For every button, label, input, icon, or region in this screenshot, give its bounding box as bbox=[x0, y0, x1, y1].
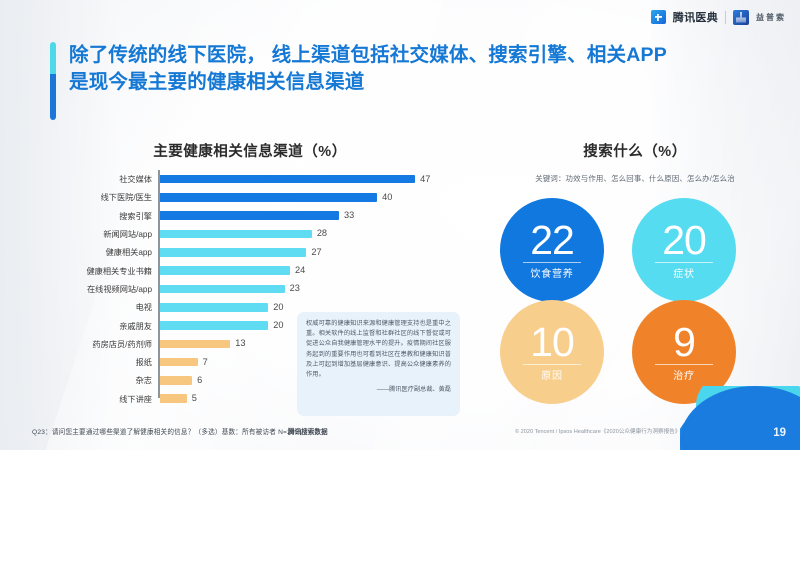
corner-swoosh-decoration bbox=[680, 386, 800, 450]
bar-category-label: 搜索引擎 bbox=[40, 210, 158, 222]
bar-value-label: 33 bbox=[344, 211, 354, 220]
bar-chart-row: 新闻网站/app28 bbox=[40, 225, 460, 243]
bar-track: 28 bbox=[158, 225, 460, 243]
bar-value-label: 7 bbox=[203, 358, 208, 367]
bar-value-label: 20 bbox=[273, 321, 283, 330]
bar-category-label: 新闻网站/app bbox=[40, 228, 158, 240]
bar-track: 40 bbox=[158, 188, 460, 206]
topic-circle-value: 10 bbox=[530, 323, 574, 361]
bar-chart-row: 搜索引擎33 bbox=[40, 207, 460, 225]
logo-divider bbox=[725, 11, 726, 24]
bar-track: 24 bbox=[158, 261, 460, 279]
quote-attribution: ——腾讯医疗副总裁、黄磊 bbox=[306, 384, 451, 393]
bar-value-label: 20 bbox=[273, 303, 283, 312]
title-accent-top bbox=[50, 42, 56, 74]
bar-track: 33 bbox=[158, 207, 460, 225]
bar-value-label: 47 bbox=[420, 175, 430, 184]
bar bbox=[160, 211, 340, 220]
bar-category-label: 药房店员/药剂师 bbox=[40, 338, 158, 350]
bar-category-label: 健康相关专业书籍 bbox=[40, 265, 158, 277]
footer-source: 腾讯搜索数据 bbox=[288, 426, 328, 436]
search-topics-title: 搜索什么（%） bbox=[470, 140, 800, 161]
slide-footer: Q23：请问您主要通过哪些渠道了解健康相关的信息？（多选）基数：所有被访者 N=… bbox=[0, 414, 800, 450]
bar-category-label: 电视 bbox=[40, 301, 158, 313]
bar bbox=[160, 193, 378, 202]
topic-circle-value: 9 bbox=[673, 323, 695, 361]
topic-circle: 22饮食营养 bbox=[500, 198, 604, 302]
bar-chart-row: 在线视频网站/app23 bbox=[40, 280, 460, 298]
bar-value-label: 27 bbox=[311, 248, 321, 257]
medical-book-icon bbox=[651, 10, 666, 24]
bar bbox=[160, 230, 312, 239]
quote-callout: 权威可靠的健康知识来源和健康管理支持也是重中之重。相关软件的线上监督和社群社区的… bbox=[297, 312, 460, 416]
footer-copyright: © 2020 Tencent / Ipsos Healthcare《2020公众… bbox=[515, 427, 680, 435]
bar bbox=[160, 303, 269, 312]
bar bbox=[160, 376, 193, 385]
bar-category-label: 社交媒体 bbox=[40, 173, 158, 185]
slide-canvas: 腾讯医典 益普索 除了传统的线下医院， 线上渠道包括社交媒体、搜索引擎、相关AP… bbox=[0, 0, 800, 450]
topic-circle-label: 治疗 bbox=[673, 367, 695, 382]
bar-category-label: 报纸 bbox=[40, 356, 158, 368]
bar-chart-row: 线下医院/医生40 bbox=[40, 188, 460, 206]
bar-category-label: 线下医院/医生 bbox=[40, 191, 158, 203]
bar-track: 27 bbox=[158, 243, 460, 261]
bar bbox=[160, 266, 291, 275]
bar-chart-row: 健康相关专业书籍24 bbox=[40, 261, 460, 279]
topic-circle: 10原因 bbox=[500, 300, 604, 404]
bar bbox=[160, 340, 231, 349]
bar bbox=[160, 394, 187, 403]
bar-value-label: 5 bbox=[192, 394, 197, 403]
bar bbox=[160, 285, 285, 294]
bar-value-label: 24 bbox=[295, 266, 305, 275]
bar-category-label: 在线视频网站/app bbox=[40, 283, 158, 295]
bar bbox=[160, 358, 198, 367]
title-text: 除了传统的线下医院， 线上渠道包括社交媒体、搜索引擎、相关APP 是现今最主要的… bbox=[69, 42, 667, 120]
topic-circle-value: 22 bbox=[530, 221, 574, 259]
topic-circle-divider bbox=[655, 364, 713, 365]
bar-value-label: 23 bbox=[290, 284, 300, 293]
ipsos-logo-icon bbox=[733, 10, 749, 25]
title-accent-bottom bbox=[50, 74, 56, 120]
bar-category-label: 线下讲座 bbox=[40, 393, 158, 405]
logo-secondary-label: 益普索 bbox=[756, 12, 786, 23]
bar-category-label: 健康相关app bbox=[40, 246, 158, 258]
bar-value-label: 6 bbox=[197, 376, 202, 385]
bar-chart-row: 社交媒体47 bbox=[40, 170, 460, 188]
topic-circle-divider bbox=[523, 364, 581, 365]
slide-title: 除了传统的线下医院， 线上渠道包括社交媒体、搜索引擎、相关APP 是现今最主要的… bbox=[50, 42, 667, 120]
bar bbox=[160, 321, 269, 330]
topic-circle-label: 饮食营养 bbox=[530, 265, 573, 280]
brand-logo-bar: 腾讯医典 益普索 bbox=[651, 9, 786, 25]
bar-category-label: 杂志 bbox=[40, 374, 158, 386]
bar-track: 47 bbox=[158, 170, 460, 188]
page-number: 19 bbox=[773, 427, 786, 439]
bar bbox=[160, 248, 307, 257]
title-line-2: 是现今最主要的健康相关信息渠道 bbox=[69, 69, 667, 96]
bar-track: 23 bbox=[158, 280, 460, 298]
bar-chart-title: 主要健康相关信息渠道（%） bbox=[40, 140, 460, 161]
topic-circle-divider bbox=[523, 262, 581, 263]
topic-circle-divider bbox=[655, 262, 713, 263]
topic-circle-value: 20 bbox=[662, 221, 706, 259]
search-keywords-line: 关键词：功效与作用、怎么回事、什么原因、怎么办/怎么治 bbox=[470, 173, 800, 184]
quote-body: 权威可靠的健康知识来源和健康管理支持也是重中之重。相关软件的线上监督和社群社区的… bbox=[306, 319, 451, 380]
bar-value-label: 40 bbox=[382, 193, 392, 202]
bar-value-label: 13 bbox=[235, 339, 245, 348]
topic-circle-label: 症状 bbox=[673, 265, 695, 280]
title-accent-bar bbox=[50, 42, 56, 120]
topic-circle-label: 原因 bbox=[541, 367, 563, 382]
search-topic-circles: 22饮食营养20症状10原因9治疗 bbox=[492, 198, 772, 413]
logo-primary-label: 腾讯医典 bbox=[673, 9, 718, 25]
footer-question: Q23：请问您主要通过哪些渠道了解健康相关的信息？（多选）基数：所有被访者 N=… bbox=[32, 426, 303, 436]
bar bbox=[160, 175, 416, 184]
search-topics-panel: 搜索什么（%） 关键词：功效与作用、怎么回事、什么原因、怎么办/怎么治 22饮食… bbox=[470, 140, 800, 420]
bar-chart-row: 健康相关app27 bbox=[40, 243, 460, 261]
topic-circle: 20症状 bbox=[632, 198, 736, 302]
title-line-1: 除了传统的线下医院， 线上渠道包括社交媒体、搜索引擎、相关APP bbox=[69, 42, 667, 69]
bar-category-label: 亲戚朋友 bbox=[40, 320, 158, 332]
bar-value-label: 28 bbox=[317, 229, 327, 238]
